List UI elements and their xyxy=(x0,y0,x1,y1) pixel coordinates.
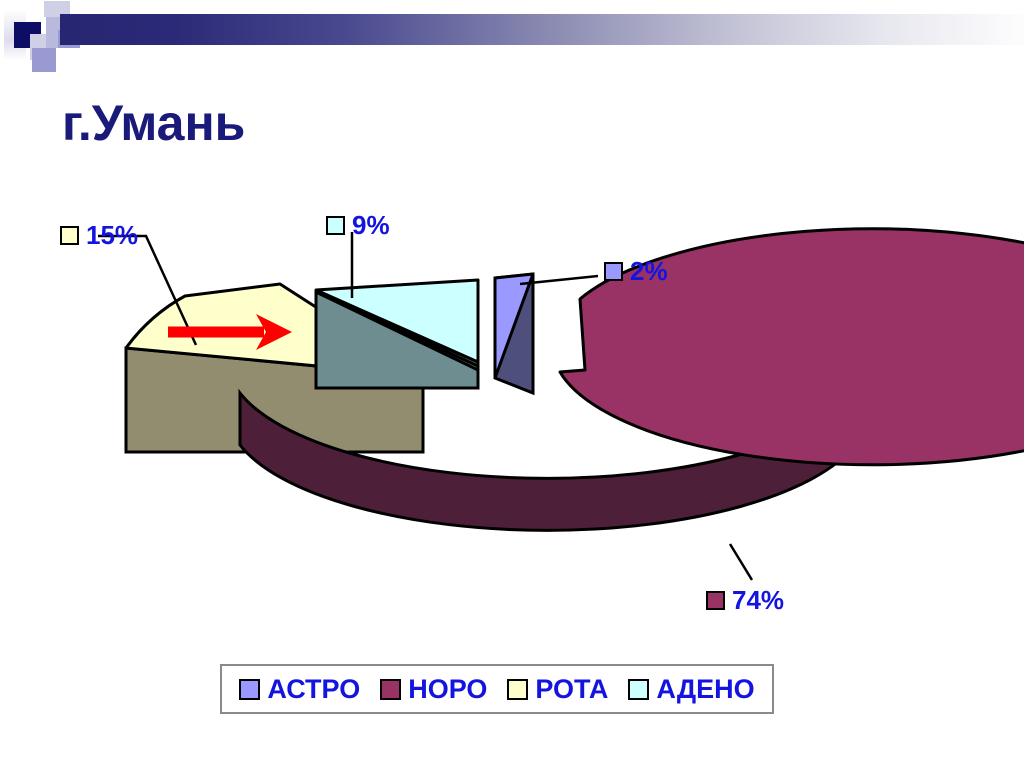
data-label-noro-text: 74% xyxy=(732,585,784,616)
data-label-noro-swatch xyxy=(706,591,725,610)
data-label-rota-swatch xyxy=(60,226,79,245)
legend-item-adeno[interactable]: АДЕНО xyxy=(628,674,754,705)
pie-chart-graphic xyxy=(0,180,1024,650)
data-label-rota-text: 15% xyxy=(86,220,138,251)
header-gradient-band xyxy=(60,14,1024,45)
data-label-adeno: 9% xyxy=(326,210,390,241)
data-label-astro: 2% xyxy=(604,256,668,287)
chart-legend: АСТРО НОРО РОТА АДЕНО xyxy=(220,664,774,714)
data-label-astro-swatch xyxy=(604,262,623,281)
legend-label-adeno: АДЕНО xyxy=(656,674,754,705)
legend-label-astro: АСТРО xyxy=(267,674,360,705)
legend-item-rota[interactable]: РОТА xyxy=(507,674,608,705)
legend-item-astro[interactable]: АСТРО xyxy=(239,674,360,705)
legend-label-noro: НОРО xyxy=(408,674,487,705)
data-label-astro-text: 2% xyxy=(630,256,668,287)
slide: г.Умань xyxy=(0,0,1024,767)
page-title: г.Умань xyxy=(62,94,245,152)
header-mid-square-a xyxy=(32,48,56,72)
legend-swatch-adeno xyxy=(628,679,649,700)
legend-swatch-astro xyxy=(239,679,260,700)
pie-slice-astro[interactable] xyxy=(495,274,533,393)
data-label-rota: 15% xyxy=(60,220,138,251)
data-label-adeno-text: 9% xyxy=(352,210,390,241)
legend-item-noro[interactable]: НОРО xyxy=(380,674,487,705)
pie-chart: 15% 9% 2% 74% xyxy=(0,180,1024,650)
legend-swatch-noro xyxy=(380,679,401,700)
leader-line-noro xyxy=(730,544,752,580)
legend-label-rota: РОТА xyxy=(535,674,608,705)
data-label-noro: 74% xyxy=(706,585,784,616)
legend-swatch-rota xyxy=(507,679,528,700)
data-label-adeno-swatch xyxy=(326,216,345,235)
